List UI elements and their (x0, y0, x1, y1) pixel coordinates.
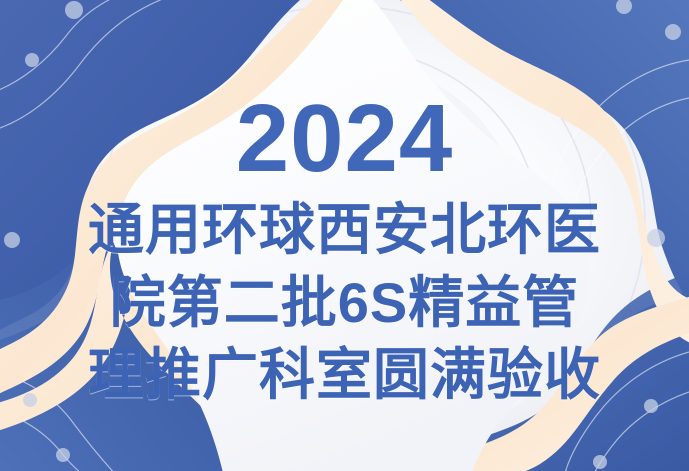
decorative-dot (23, 393, 37, 407)
decorative-dot (25, 53, 39, 67)
poster-headline: 通用环球西安北环医 院第二批6S精益管 理推广科室圆满验收 (88, 196, 601, 409)
decorative-dot (65, 1, 83, 19)
headline-line-2: 院第二批6S精益管 (110, 269, 580, 337)
decorative-dot (593, 455, 607, 469)
decorative-dot (616, 0, 632, 14)
poster-year: 2024 (236, 96, 454, 182)
headline-line-1: 通用环球西安北环医 (88, 196, 601, 264)
decorative-dot (647, 229, 665, 247)
decorative-dot (644, 399, 658, 413)
decorative-dot (56, 448, 70, 462)
poster-canvas: 2024 通用环球西安北环医 院第二批6S精益管 理推广科室圆满验收 (0, 0, 689, 471)
headline-line-3: 理推广科室圆满验收 (88, 341, 601, 409)
decorative-dot (665, 24, 681, 40)
decorative-dot (4, 232, 20, 248)
